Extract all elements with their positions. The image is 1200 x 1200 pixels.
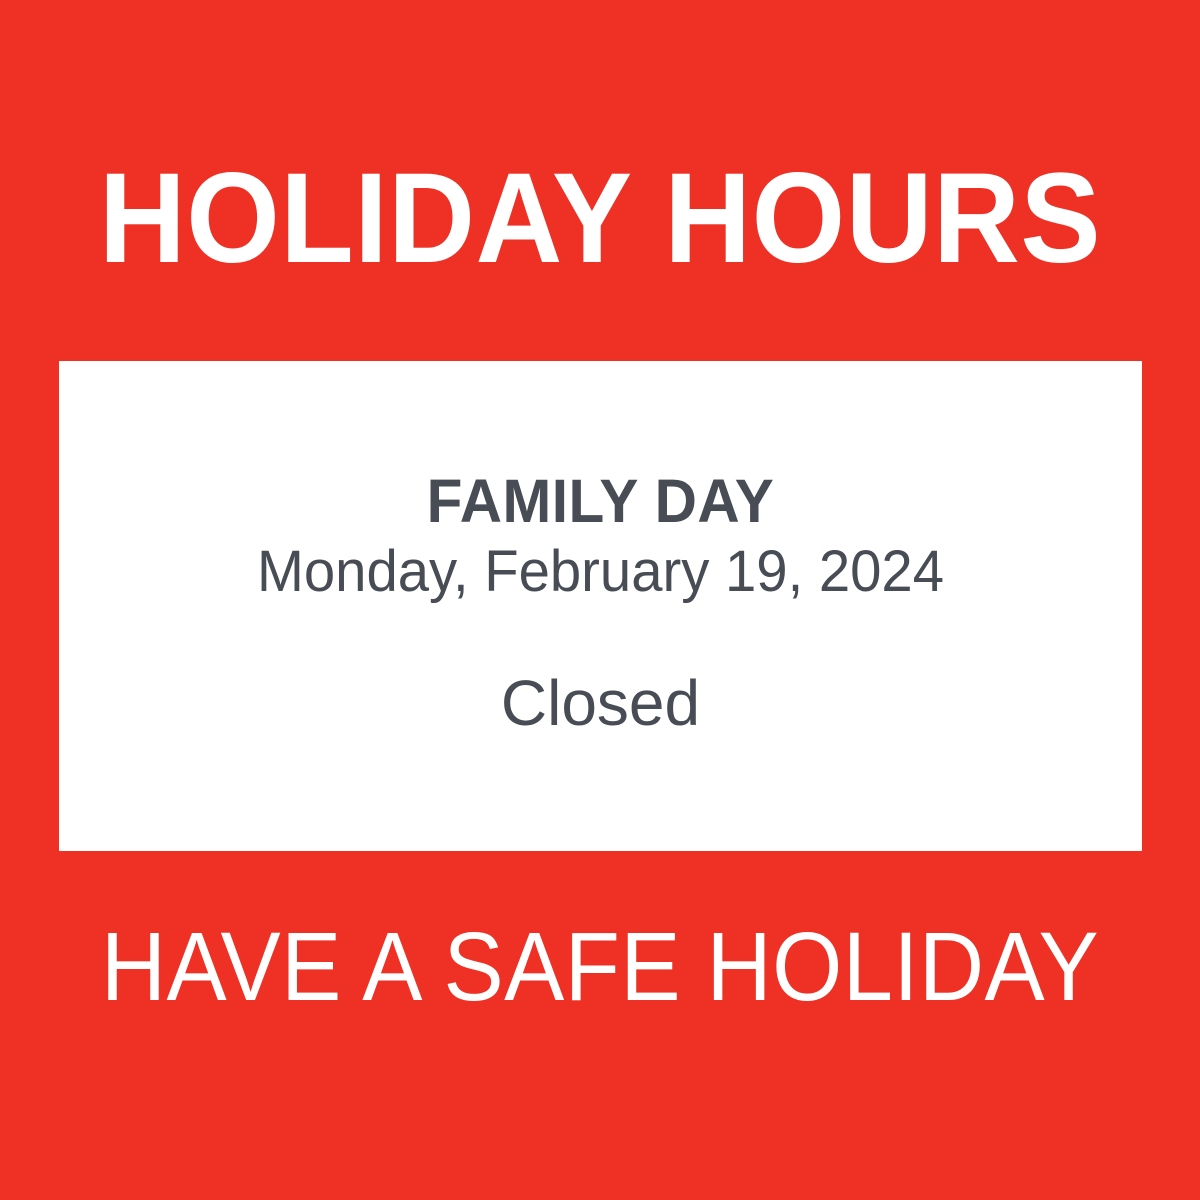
holiday-info-card: FAMILY DAY Monday, February 19, 2024 Clo… (59, 361, 1142, 851)
holiday-date: Monday, February 19, 2024 (75, 538, 1126, 606)
page-title: HOLIDAY HOURS (36, 155, 1164, 283)
footer-message: HAVE A SAFE HOLIDAY (42, 918, 1158, 1015)
holiday-info-content: FAMILY DAY Monday, February 19, 2024 Clo… (59, 467, 1142, 744)
status-badge: Closed (59, 668, 1142, 738)
holiday-hours-poster: HOLIDAY HOURS FAMILY DAY Monday, Februar… (0, 0, 1200, 1200)
holiday-name: FAMILY DAY (81, 467, 1121, 535)
